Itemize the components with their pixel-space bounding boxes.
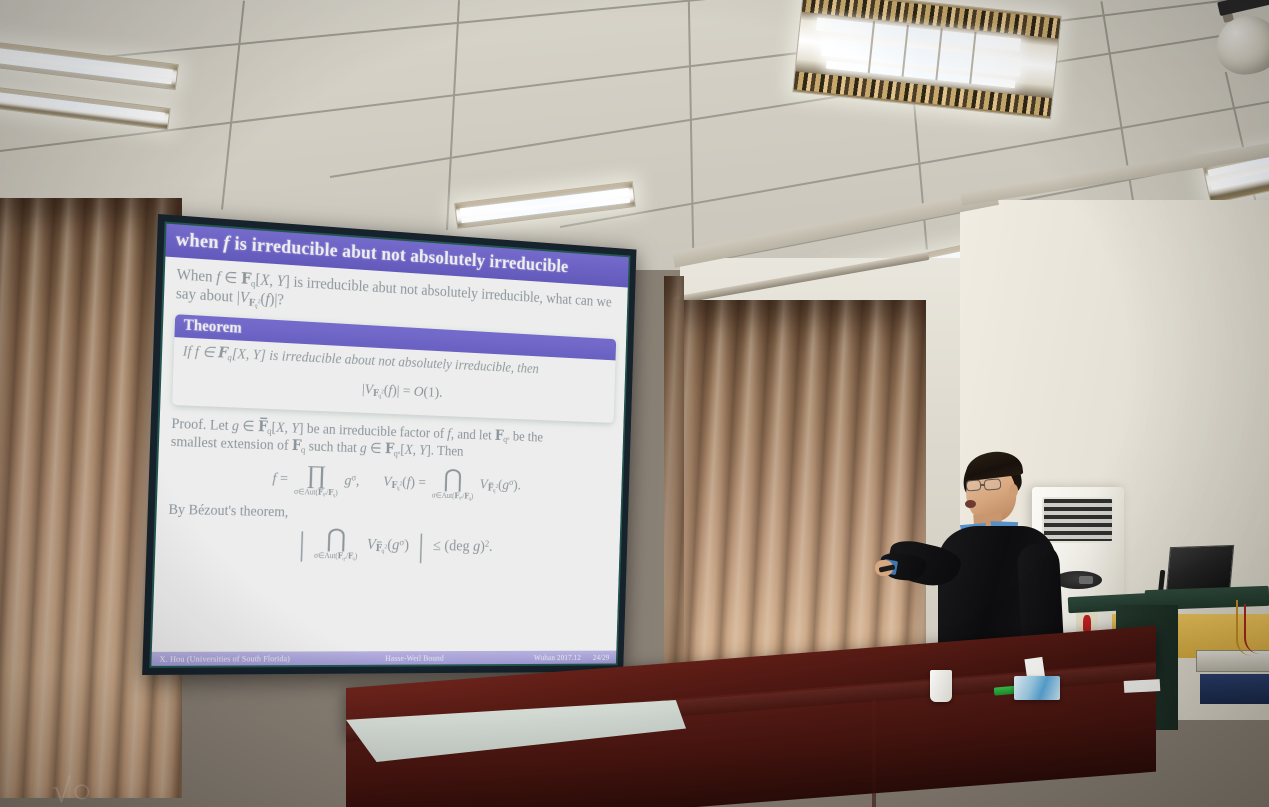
theorem-box: Theorem If f ∈ Fq[X, Y] is irreducible a…: [172, 315, 616, 423]
bezout-rhs: ≤ (deg g)2.: [433, 538, 493, 556]
bezout-intersection-glyph: ⋂: [314, 528, 358, 550]
product-operator: ∏ σ∈Aut(Fqn/Fq): [294, 463, 339, 498]
footer-author: X. Hou (Universities of South Florida): [159, 653, 290, 663]
eq-left-rhs: gσ,: [344, 473, 360, 490]
bezout-subscript: σ∈Aut(Fqn/Fq): [314, 550, 358, 562]
intersection-subscript: σ∈Aut(Fqn/Fq): [432, 490, 474, 502]
presenter-ear: [1009, 484, 1018, 497]
presenter-mouth: [965, 500, 976, 508]
footer-venue: Wuhan 2017.12: [534, 653, 581, 663]
bezout-term: VF̅q2(gσ): [366, 536, 409, 555]
bezout-text: By Bézout's theorem,: [168, 502, 610, 528]
intersection-operator: ⋂ σ∈Aut(Fqn/Fq): [432, 468, 474, 502]
footer-talk-title: Hasse-Weil Bound: [385, 653, 444, 663]
glasses-right-lens: [984, 478, 1002, 490]
product-glyph: ∏: [294, 463, 338, 486]
eq-left-lhs: f =: [272, 471, 288, 488]
proof-equation-left: f = ∏ σ∈Aut(Fqn/Fq) gσ,: [272, 463, 360, 499]
intersection-glyph: ⋂: [432, 468, 474, 490]
curtain-sliver: [664, 276, 684, 696]
footer-page-number: 24/29: [593, 652, 610, 661]
slide-body: When f ∈ Fq[X, Y] is irreducible abut no…: [152, 257, 628, 652]
slide-title-pre: when: [175, 229, 223, 253]
proof-text: Proof. Let g ∈ F̅q[X, Y] be an irreducib…: [171, 415, 614, 466]
product-subscript: σ∈Aut(Fqn/Fq): [294, 486, 338, 498]
slide-footer: X. Hou (Universities of South Florida) H…: [151, 651, 616, 666]
projection-screen: when f is irreducible abut not absolutel…: [142, 214, 636, 675]
bezout-equation: | ⋂ σ∈Aut(Fqn/Fq) VF̅q2(gσ) | ≤ (deg g)2…: [167, 525, 610, 565]
footer-right: Wuhan 2017.12 24/29: [534, 652, 610, 662]
proof-equation-row: f = ∏ σ∈Aut(Fqn/Fq) gσ, VFq2(f) = ⋂ σ∈Au…: [169, 460, 612, 506]
slide-content: when f is irreducible abut not absolutel…: [151, 224, 628, 666]
eq-right-lhs: VFq2(f) =: [383, 474, 426, 493]
abs-bar-right: |: [418, 535, 425, 558]
cable-red: [1244, 604, 1260, 654]
paper-sheet: [1124, 679, 1161, 693]
tissue-box: [1014, 676, 1060, 700]
eq-right-rhs: VF̅q2(gσ).: [479, 477, 521, 495]
glasses-bridge: [980, 484, 985, 486]
abs-bar-left: |: [298, 533, 305, 556]
paper-cup: [930, 670, 952, 702]
desk-panel-seam: [872, 700, 876, 807]
lecture-hall-photo: when f is irreducible abut not absolutel…: [0, 0, 1269, 807]
proof-equation-right: VFq2(f) = ⋂ σ∈Aut(Fqn/Fq) VF̅q2(gσ).: [383, 466, 522, 503]
bezout-intersection-operator: ⋂ σ∈Aut(Fqn/Fq): [314, 528, 358, 562]
equipment-rack-lower: [1200, 674, 1269, 704]
